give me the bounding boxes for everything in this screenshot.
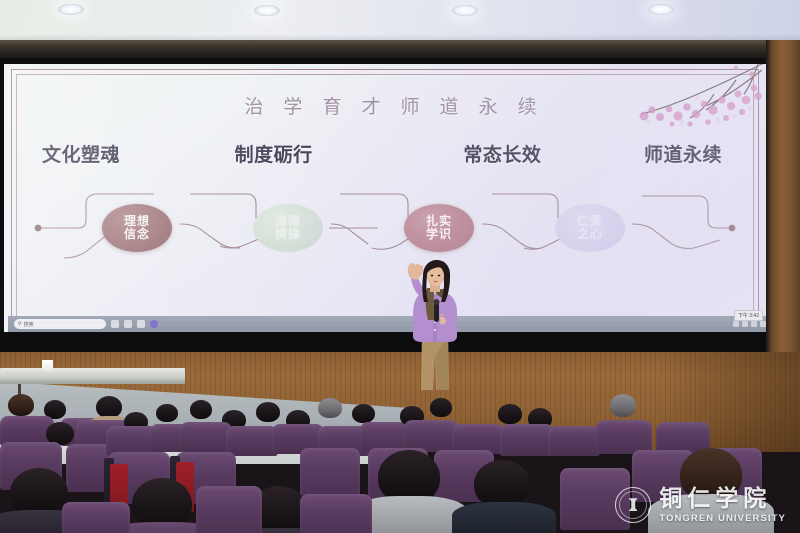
slide-timeline: 理想 信念 道德 情操 扎实 学识 仁爱 之心 [4, 190, 766, 268]
slide-heading-3: 常态长效 [463, 140, 541, 167]
university-crest-icon [615, 487, 651, 523]
ceiling-downlight-icon [58, 4, 84, 15]
timeline-node-1-line2: 信念 [124, 228, 150, 241]
university-watermark: 铜仁学院 TONGREN UNIVERSITY [615, 487, 786, 524]
ceiling-downlight-icon [452, 5, 478, 16]
timeline-node-3-line2: 学识 [426, 228, 452, 241]
audience-head [256, 402, 280, 422]
slide-heading-4: 师道永续 [644, 140, 722, 167]
task-view-icon[interactable] [111, 320, 119, 328]
speaker-presenter [392, 258, 478, 390]
windows-taskbar[interactable]: ⚲ 搜索 下午 3:42 [8, 316, 766, 332]
watermark-name-en: TONGREN UNIVERSITY [659, 514, 786, 524]
slide-title: 治 学 育 才 师 道 永 续 [4, 92, 766, 119]
audience-head [430, 398, 452, 417]
timeline-end-dot [729, 225, 736, 232]
timeline-node-3[interactable]: 扎实 学识 [404, 204, 474, 252]
audience-head [156, 404, 178, 422]
audience-shoulders [452, 502, 556, 533]
watermark-text: 铜仁学院 TONGREN UNIVERSITY [659, 487, 786, 524]
seat [596, 420, 652, 454]
slide-heading-1: 文化塑魂 [42, 140, 120, 167]
audience-head [352, 404, 375, 423]
head-table [0, 368, 185, 384]
timeline-start-dot [35, 225, 42, 232]
seat [300, 494, 372, 533]
audience-head-foreground [474, 460, 530, 508]
audience-head [8, 394, 34, 416]
audience-head [318, 398, 342, 418]
taskbar-system-tray[interactable]: 下午 3:42 [733, 321, 766, 327]
audience-head [498, 404, 522, 424]
audience-head [96, 396, 122, 418]
seat [300, 448, 360, 500]
audience-head [190, 400, 212, 419]
crest-core [629, 498, 638, 511]
tray-icon[interactable] [751, 321, 757, 327]
timeline-node-4-line1: 仁爱 [577, 215, 603, 228]
slide-heading-2: 制度砺行 [235, 140, 313, 167]
store-icon[interactable] [137, 320, 145, 328]
timeline-node-2-line1: 道德 [275, 215, 301, 228]
ceiling-downlight-icon [254, 5, 280, 16]
tray-icon[interactable] [742, 321, 748, 327]
timeline-node-4[interactable]: 仁爱 之心 [555, 204, 625, 252]
audience-head [610, 394, 636, 417]
seat [62, 502, 130, 533]
watermark-name-cn: 铜仁学院 [659, 487, 786, 510]
tray-icon[interactable] [733, 321, 739, 327]
taskbar-clock[interactable]: 下午 3:42 [734, 310, 763, 321]
lecture-hall-photo: 治 学 育 才 师 道 永 续 文化塑魂 制度砺行 常态长效 师道永续 [0, 0, 800, 533]
timeline-node-3-line1: 扎实 [426, 215, 452, 228]
paper-cup [42, 360, 53, 371]
seat [226, 426, 278, 456]
tray-icon[interactable] [760, 321, 766, 327]
timeline-node-2[interactable]: 道德 情操 [253, 204, 323, 252]
projected-slide[interactable]: 治 学 育 才 师 道 永 续 文化塑魂 制度砺行 常态长效 师道永续 [4, 64, 766, 332]
ceiling-downlight-icon [648, 4, 674, 15]
browser-icon[interactable] [150, 320, 158, 328]
seat [548, 426, 600, 456]
seat [180, 422, 232, 452]
seat [500, 424, 554, 456]
wall-right-strip [766, 40, 800, 356]
timeline-node-1-line1: 理想 [124, 215, 150, 228]
explorer-icon[interactable] [124, 320, 132, 328]
seat [196, 486, 262, 533]
ceiling [0, 0, 800, 42]
taskbar-search-input[interactable]: ⚲ 搜索 [14, 319, 106, 329]
search-icon: ⚲ [18, 321, 22, 327]
timeline-node-2-line2: 情操 [275, 228, 301, 241]
slide-headings: 文化塑魂 制度砺行 常态长效 师道永续 [26, 140, 744, 167]
timeline-node-4-line2: 之心 [577, 228, 603, 241]
timeline-node-1[interactable]: 理想 信念 [102, 204, 172, 252]
taskbar-search-placeholder: 搜索 [24, 321, 34, 328]
